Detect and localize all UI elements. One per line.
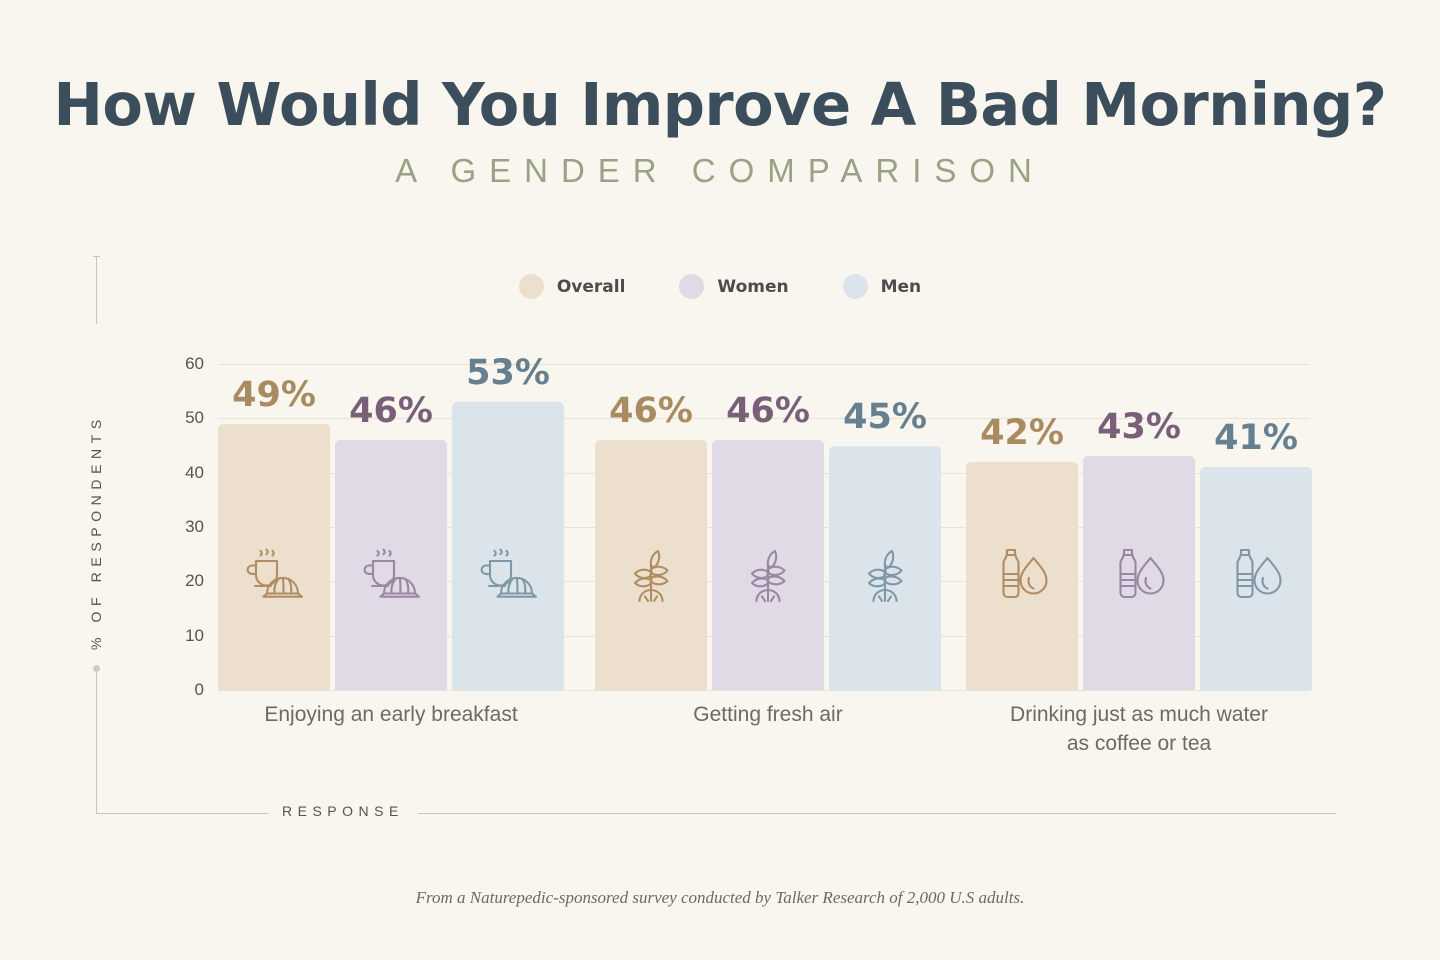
bar-value-label: 46% bbox=[726, 391, 810, 431]
bar-women-group1[interactable]: 46% bbox=[335, 440, 447, 690]
legend-swatch-overall bbox=[519, 274, 544, 299]
bar-value-label: 49% bbox=[232, 375, 316, 415]
bar-group-2: 46%46%45% bbox=[595, 364, 941, 690]
page-subtitle: A GENDER COMPARISON bbox=[0, 152, 1440, 190]
bar-value-label: 42% bbox=[980, 413, 1064, 453]
legend-label: Overall bbox=[557, 277, 626, 297]
category-label-2: Getting fresh air bbox=[565, 700, 971, 729]
axis-corner-line bbox=[96, 668, 97, 814]
page-title: How Would You Improve A Bad Morning? bbox=[0, 70, 1440, 139]
gridline bbox=[218, 690, 1310, 691]
sprout-icon bbox=[730, 536, 806, 612]
water-bottle-droplet-icon bbox=[1101, 536, 1177, 612]
y-axis-label: % OF RESPONDENTS bbox=[88, 330, 108, 650]
bar-value-label: 53% bbox=[466, 353, 550, 393]
bar-women-group3[interactable]: 43% bbox=[1083, 456, 1195, 690]
bar-men-group3[interactable]: 41% bbox=[1200, 467, 1312, 690]
coffee-croissant-icon bbox=[470, 536, 546, 612]
coffee-croissant-icon bbox=[353, 536, 429, 612]
legend-label: Women bbox=[717, 277, 788, 297]
source-credit: From a Naturepedic-sponsored survey cond… bbox=[0, 888, 1440, 908]
bar-value-label: 45% bbox=[843, 397, 927, 437]
legend-item-overall[interactable]: Overall bbox=[519, 274, 626, 299]
y-axis-tick-60: 60 bbox=[134, 354, 204, 374]
infographic-canvas: How Would You Improve A Bad Morning? A G… bbox=[0, 0, 1440, 960]
category-label-1: Enjoying an early breakfast bbox=[188, 700, 594, 729]
bar-group-1: 49%46%53% bbox=[218, 364, 564, 690]
bar-men-group2[interactable]: 45% bbox=[829, 446, 941, 691]
category-label-3: Drinking just as much wateras coffee or … bbox=[936, 700, 1342, 758]
sprout-icon bbox=[847, 536, 923, 612]
water-bottle-droplet-icon bbox=[1218, 536, 1294, 612]
coffee-croissant-icon bbox=[236, 536, 312, 612]
y-axis-tick-40: 40 bbox=[134, 463, 204, 483]
bar-value-label: 43% bbox=[1097, 407, 1181, 447]
category-labels: Enjoying an early breakfastGetting fresh… bbox=[218, 700, 1310, 770]
legend-swatch-women bbox=[679, 274, 704, 299]
bar-group-3: 42%43%41% bbox=[966, 364, 1312, 690]
bar-overall-group1[interactable]: 49% bbox=[218, 424, 330, 690]
sprout-icon bbox=[613, 536, 689, 612]
y-axis-arrow bbox=[96, 256, 97, 324]
y-axis-tick-0: 0 bbox=[134, 680, 204, 700]
y-axis-tick-10: 10 bbox=[134, 626, 204, 646]
legend-item-men[interactable]: Men bbox=[843, 274, 922, 299]
legend-item-women[interactable]: Women bbox=[679, 274, 788, 299]
legend-swatch-men bbox=[843, 274, 868, 299]
bar-overall-group2[interactable]: 46% bbox=[595, 440, 707, 690]
bar-men-group1[interactable]: 53% bbox=[452, 402, 564, 690]
y-axis-tick-30: 30 bbox=[134, 517, 204, 537]
y-axis-tick-20: 20 bbox=[134, 571, 204, 591]
bar-overall-group3[interactable]: 42% bbox=[966, 462, 1078, 690]
chart-legend: OverallWomenMen bbox=[0, 274, 1440, 299]
bar-value-label: 41% bbox=[1214, 418, 1298, 458]
bar-value-label: 46% bbox=[349, 391, 433, 431]
bar-value-label: 46% bbox=[609, 391, 693, 431]
water-bottle-droplet-icon bbox=[984, 536, 1060, 612]
plot-area: 605040302010049%46%53%46%46%45%42%43%41% bbox=[218, 364, 1310, 690]
bar-women-group2[interactable]: 46% bbox=[712, 440, 824, 690]
x-axis-label: RESPONSE bbox=[268, 803, 418, 819]
legend-label: Men bbox=[881, 277, 922, 297]
y-axis-tick-50: 50 bbox=[134, 408, 204, 428]
